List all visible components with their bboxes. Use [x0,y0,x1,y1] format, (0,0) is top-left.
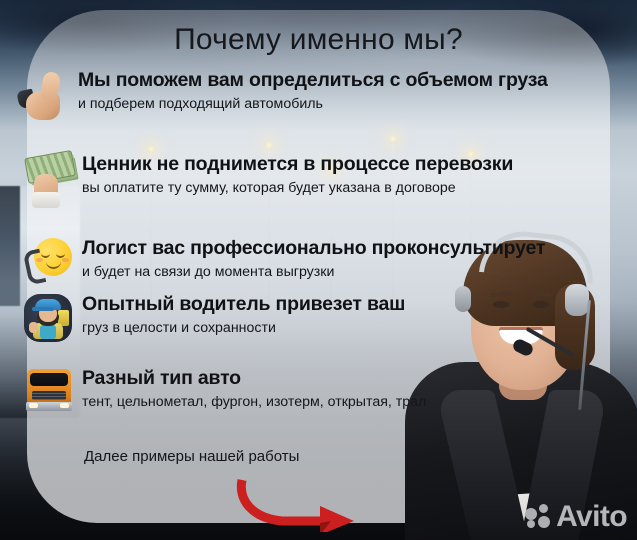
thumbs-up-hand-icon [16,68,74,126]
feature-title: Мы поможем вам определиться с объемом гр… [78,70,548,92]
feature-item: Разный тип авто тент, цельнометал, фурго… [20,366,620,424]
feature-item: Опытный водитель привезет ваш груз в цел… [20,292,620,344]
hand-holding-money-icon [20,152,78,210]
feature-subtitle: тент, цельнометал, фургон, изотерм, откр… [82,393,426,411]
red-curved-arrow-icon [236,478,362,532]
feature-subtitle: и будет на связи до момента выгрузки [82,263,545,281]
truck-driver-icon [20,292,78,344]
cta-text: Далее примеры нашей работы [84,448,299,465]
page-title: Почему именно мы? [0,23,637,57]
feature-subtitle: и подберем подходящий автомобиль [78,95,548,113]
feature-item: Ценник не поднимется в процессе перевозк… [20,152,620,210]
feature-title: Опытный водитель привезет ваш [82,294,405,316]
feature-title: Ценник не поднимется в процессе перевозк… [82,154,513,176]
avito-watermark: Avito [525,502,627,532]
banner-content: Почему именно мы? Мы поможем вам определ… [0,0,637,540]
avito-dots-logo-icon [525,504,551,530]
advertisement-banner: Почему именно мы? Мы поможем вам определ… [0,0,637,540]
feature-item: Мы поможем вам определиться с объемом гр… [20,68,620,126]
relieved-face-with-handset-icon [20,236,78,284]
feature-title: Логист вас профессионально проконсультир… [82,238,545,260]
feature-subtitle: вы оплатите ту сумму, которая будет указ… [82,179,513,197]
orange-truck-icon [20,366,78,424]
feature-subtitle: груз в целости и сохранности [82,319,405,337]
avito-brand-name: Avito [556,502,627,532]
feature-title: Разный тип авто [82,368,426,390]
feature-item: Логист вас профессионально проконсультир… [20,236,620,284]
